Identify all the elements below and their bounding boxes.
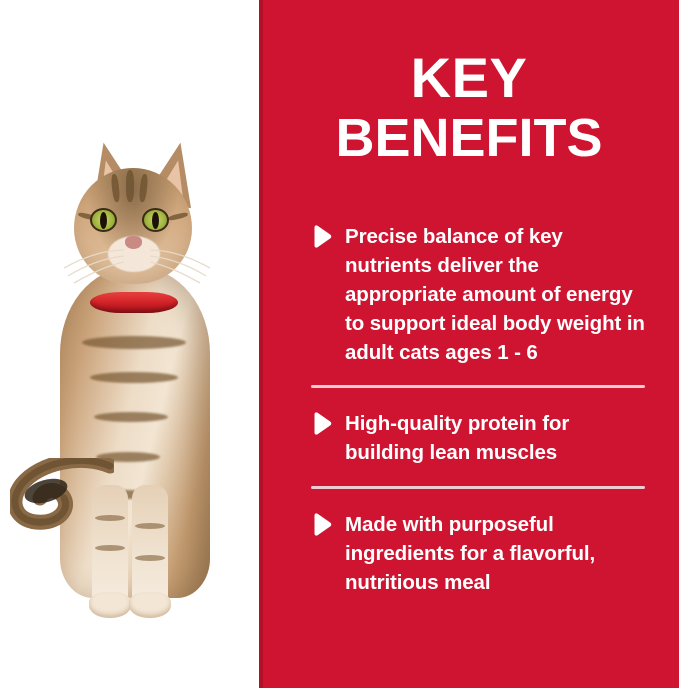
cat-paw-right — [129, 592, 171, 618]
play-triangle-icon — [311, 412, 333, 436]
cat-collar — [90, 292, 178, 313]
benefits-panel: KEY BENEFITS Precise balance of key nutr… — [259, 0, 679, 688]
page-title: KEY BENEFITS — [259, 48, 679, 168]
list-item-label: High-quality protein for building lean m… — [345, 409, 649, 467]
key-benefits-poster: KEY BENEFITS Precise balance of key nutr… — [0, 0, 679, 688]
cat-pupil-left — [100, 212, 107, 229]
play-triangle-icon — [311, 225, 333, 249]
list-item-label: Made with purposeful ingredients for a f… — [345, 510, 649, 597]
cat-chest-stripe — [82, 336, 186, 349]
divider — [311, 486, 645, 489]
list-item: Precise balance of key nutrients deliver… — [259, 214, 679, 367]
cat-tail-icon — [10, 458, 114, 532]
cat-leg-stripe — [95, 545, 125, 551]
title-line-benefits: BENEFITS — [259, 108, 679, 168]
title-line-key: KEY — [259, 48, 679, 108]
cat-chest-stripe — [90, 372, 178, 383]
cat-photo-panel — [0, 0, 259, 688]
cat-leg-stripe — [135, 523, 165, 529]
list-item-label: Precise balance of key nutrients deliver… — [345, 222, 649, 367]
list-item: Made with purposeful ingredients for a f… — [259, 489, 679, 597]
benefits-list: Precise balance of key nutrients deliver… — [259, 214, 679, 597]
cat-photo — [0, 0, 259, 688]
cat-nose — [125, 236, 142, 249]
cat-leg-stripe — [135, 555, 165, 561]
cat-chest-stripe — [94, 412, 168, 422]
list-item: High-quality protein for building lean m… — [259, 388, 679, 467]
cat-paw-left — [89, 592, 131, 618]
play-triangle-icon — [311, 513, 333, 537]
cat-forehead-stripe — [126, 170, 134, 202]
cat-pupil-right — [152, 212, 159, 229]
cat-illustration — [8, 140, 253, 660]
divider — [311, 385, 645, 388]
